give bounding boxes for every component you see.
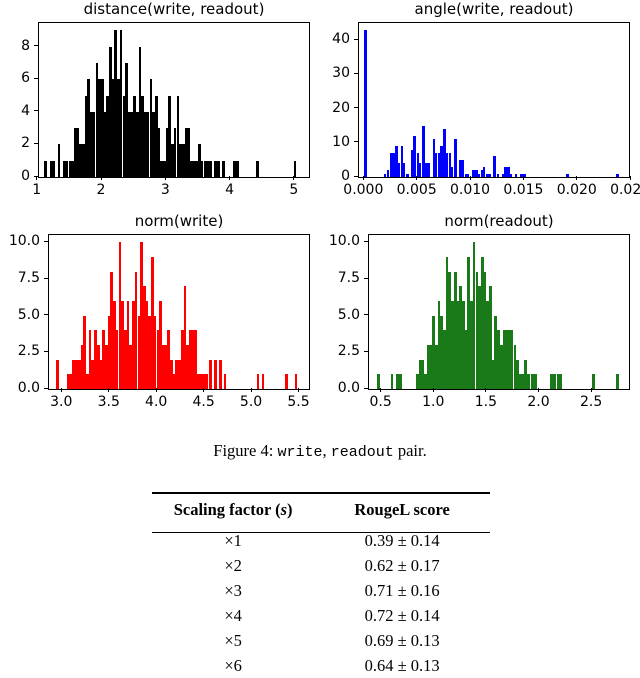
y-tick-mark bbox=[44, 314, 48, 315]
table-header-scaling-factor-text: Scaling factor ( bbox=[174, 500, 281, 519]
x-tick-label: 3.0 bbox=[50, 395, 72, 409]
x-tick-mark bbox=[538, 388, 539, 392]
y-tick-mark bbox=[354, 176, 358, 177]
x-tick-mark bbox=[108, 388, 109, 392]
x-tick-mark bbox=[380, 388, 381, 392]
y-tick-mark bbox=[44, 278, 48, 279]
x-tick-label: 3 bbox=[161, 183, 170, 197]
chart-panel-norm-write: norm(write) 0.02.55.07.510.03.03.54.04.5… bbox=[0, 212, 320, 417]
x-tick-label: 4 bbox=[225, 183, 234, 197]
table-cell-scaling-factor: ×5 bbox=[152, 628, 314, 653]
table-row: ×20.62 ± 0.17 bbox=[152, 553, 490, 578]
y-tick-label: 6 bbox=[0, 71, 30, 85]
x-tick-mark bbox=[101, 176, 102, 180]
table-body: ×10.39 ± 0.14×20.62 ± 0.17×30.71 ± 0.16×… bbox=[152, 528, 490, 678]
x-tick-mark bbox=[433, 388, 434, 392]
x-tick-label: 4.0 bbox=[145, 395, 167, 409]
table-row: ×40.72 ± 0.14 bbox=[152, 603, 490, 628]
y-tick-label: 0 bbox=[320, 169, 350, 183]
y-tick-label: 40 bbox=[320, 32, 350, 46]
y-tick-mark bbox=[364, 241, 368, 242]
x-tick-mark bbox=[298, 388, 299, 392]
table-row: ×60.64 ± 0.13 bbox=[152, 653, 490, 678]
y-tick-label: 0.0 bbox=[320, 381, 360, 395]
y-tick-label: 10.0 bbox=[0, 234, 40, 248]
x-tick-mark bbox=[165, 176, 166, 180]
y-tick-label: 2 bbox=[0, 136, 30, 150]
figure-caption: Figure 4: write, readout pair. bbox=[0, 441, 640, 463]
y-tick-mark bbox=[364, 314, 368, 315]
table-header-scaling-factor: Scaling factor (s) bbox=[152, 492, 314, 528]
x-tick-mark bbox=[36, 176, 37, 180]
caption-suffix: pair. bbox=[398, 441, 427, 460]
x-tick-mark bbox=[229, 176, 230, 180]
y-tick-label: 7.5 bbox=[0, 271, 40, 285]
x-tick-mark bbox=[156, 388, 157, 392]
x-tick-label: 3.5 bbox=[98, 395, 120, 409]
x-tick-mark bbox=[416, 176, 417, 180]
x-tick-mark bbox=[293, 176, 294, 180]
x-tick-label: 2 bbox=[97, 183, 106, 197]
y-tick-mark bbox=[34, 143, 38, 144]
y-tick-mark bbox=[34, 78, 38, 79]
x-tick-mark bbox=[363, 176, 364, 180]
table-cell-rougel-score: 0.69 ± 0.13 bbox=[314, 628, 490, 653]
y-tick-mark bbox=[364, 388, 368, 389]
x-tick-mark bbox=[203, 388, 204, 392]
axes-distance: 0246812345 bbox=[0, 0, 320, 200]
x-tick-mark bbox=[523, 176, 524, 180]
table-row: ×50.69 ± 0.13 bbox=[152, 628, 490, 653]
x-tick-mark bbox=[576, 176, 577, 180]
x-tick-mark bbox=[591, 388, 592, 392]
table-cell-scaling-factor: ×2 bbox=[152, 553, 314, 578]
x-tick-mark bbox=[485, 388, 486, 392]
axes-angle: 0102030400.0000.0050.0100.0150.0200.025 bbox=[320, 0, 640, 200]
y-tick-label: 4 bbox=[0, 104, 30, 118]
x-tick-label: 2.5 bbox=[580, 395, 602, 409]
y-tick-mark bbox=[364, 351, 368, 352]
y-tick-mark bbox=[44, 388, 48, 389]
x-tick-mark bbox=[630, 176, 631, 180]
x-tick-label: 0.5 bbox=[369, 395, 391, 409]
y-tick-label: 2.5 bbox=[0, 344, 40, 358]
y-tick-mark bbox=[354, 141, 358, 142]
chart-panel-norm-readout: norm(readout) 0.02.55.07.510.00.51.01.52… bbox=[320, 212, 640, 417]
table-rule-mid bbox=[152, 532, 490, 533]
x-tick-label: 1.5 bbox=[475, 395, 497, 409]
x-tick-label: 0.025 bbox=[610, 183, 640, 197]
x-tick-label: 1 bbox=[32, 183, 41, 197]
table-header-row: Scaling factor (s) RougeL score bbox=[152, 492, 490, 528]
caption-readout-token: readout bbox=[331, 444, 394, 461]
table-row: ×30.71 ± 0.16 bbox=[152, 578, 490, 603]
y-tick-label: 2.5 bbox=[320, 344, 360, 358]
x-tick-mark bbox=[251, 388, 252, 392]
table-header-scaling-factor-close: ) bbox=[287, 500, 293, 519]
x-tick-label: 0.020 bbox=[557, 183, 597, 197]
y-tick-mark bbox=[364, 278, 368, 279]
table-cell-scaling-factor: ×4 bbox=[152, 603, 314, 628]
y-tick-label: 10 bbox=[320, 135, 350, 149]
table-cell-rougel-score: 0.62 ± 0.17 bbox=[314, 553, 490, 578]
x-tick-mark bbox=[61, 388, 62, 392]
x-tick-label: 0.015 bbox=[503, 183, 543, 197]
axes-norm-write: 0.02.55.07.510.03.03.54.04.55.05.5 bbox=[0, 212, 320, 417]
table-rule-top bbox=[152, 492, 490, 494]
x-tick-label: 0.000 bbox=[343, 183, 383, 197]
y-tick-mark bbox=[34, 110, 38, 111]
y-tick-label: 7.5 bbox=[320, 271, 360, 285]
y-tick-mark bbox=[354, 39, 358, 40]
y-tick-label: 20 bbox=[320, 101, 350, 115]
y-tick-label: 8 bbox=[0, 39, 30, 53]
scaling-factor-table: Scaling factor (s) RougeL score ×10.39 ±… bbox=[152, 492, 490, 678]
y-tick-mark bbox=[44, 351, 48, 352]
figure-panel-grid: distance(write, readout) 0246812345 angl… bbox=[0, 0, 640, 425]
y-tick-mark bbox=[34, 45, 38, 46]
caption-comma: , bbox=[322, 441, 326, 460]
y-tick-mark bbox=[44, 241, 48, 242]
y-tick-label: 30 bbox=[320, 66, 350, 80]
y-tick-mark bbox=[354, 73, 358, 74]
x-tick-label: 1.0 bbox=[422, 395, 444, 409]
chart-panel-angle: angle(write, readout) 0102030400.0000.00… bbox=[320, 0, 640, 200]
y-tick-label: 5.0 bbox=[320, 308, 360, 322]
axes-norm-readout: 0.02.55.07.510.00.51.01.52.02.5 bbox=[320, 212, 640, 417]
table-cell-rougel-score: 0.71 ± 0.16 bbox=[314, 578, 490, 603]
table-cell-rougel-score: 0.72 ± 0.14 bbox=[314, 603, 490, 628]
x-tick-label: 4.5 bbox=[192, 395, 214, 409]
table-header-rougel-score: RougeL score bbox=[314, 492, 490, 528]
table-cell-scaling-factor: ×3 bbox=[152, 578, 314, 603]
table-head: Scaling factor (s) RougeL score bbox=[152, 492, 490, 528]
table-score: Scaling factor (s) RougeL score ×10.39 ±… bbox=[152, 492, 490, 678]
caption-prefix: Figure 4: bbox=[213, 441, 273, 460]
x-tick-label: 2.0 bbox=[527, 395, 549, 409]
y-tick-label: 10.0 bbox=[320, 234, 360, 248]
x-tick-mark bbox=[470, 176, 471, 180]
y-tick-label: 5.0 bbox=[0, 308, 40, 322]
table-cell-rougel-score: 0.64 ± 0.13 bbox=[314, 653, 490, 678]
y-tick-label: 0 bbox=[0, 169, 30, 183]
x-tick-label: 0.005 bbox=[397, 183, 437, 197]
x-tick-label: 5.0 bbox=[240, 395, 262, 409]
table-cell-scaling-factor: ×6 bbox=[152, 653, 314, 678]
x-tick-label: 5.5 bbox=[287, 395, 309, 409]
y-tick-label: 0.0 bbox=[0, 381, 40, 395]
x-tick-label: 5 bbox=[289, 183, 298, 197]
chart-panel-distance: distance(write, readout) 0246812345 bbox=[0, 0, 320, 200]
y-tick-mark bbox=[354, 107, 358, 108]
caption-write-token: write bbox=[277, 444, 322, 461]
x-tick-label: 0.010 bbox=[450, 183, 490, 197]
